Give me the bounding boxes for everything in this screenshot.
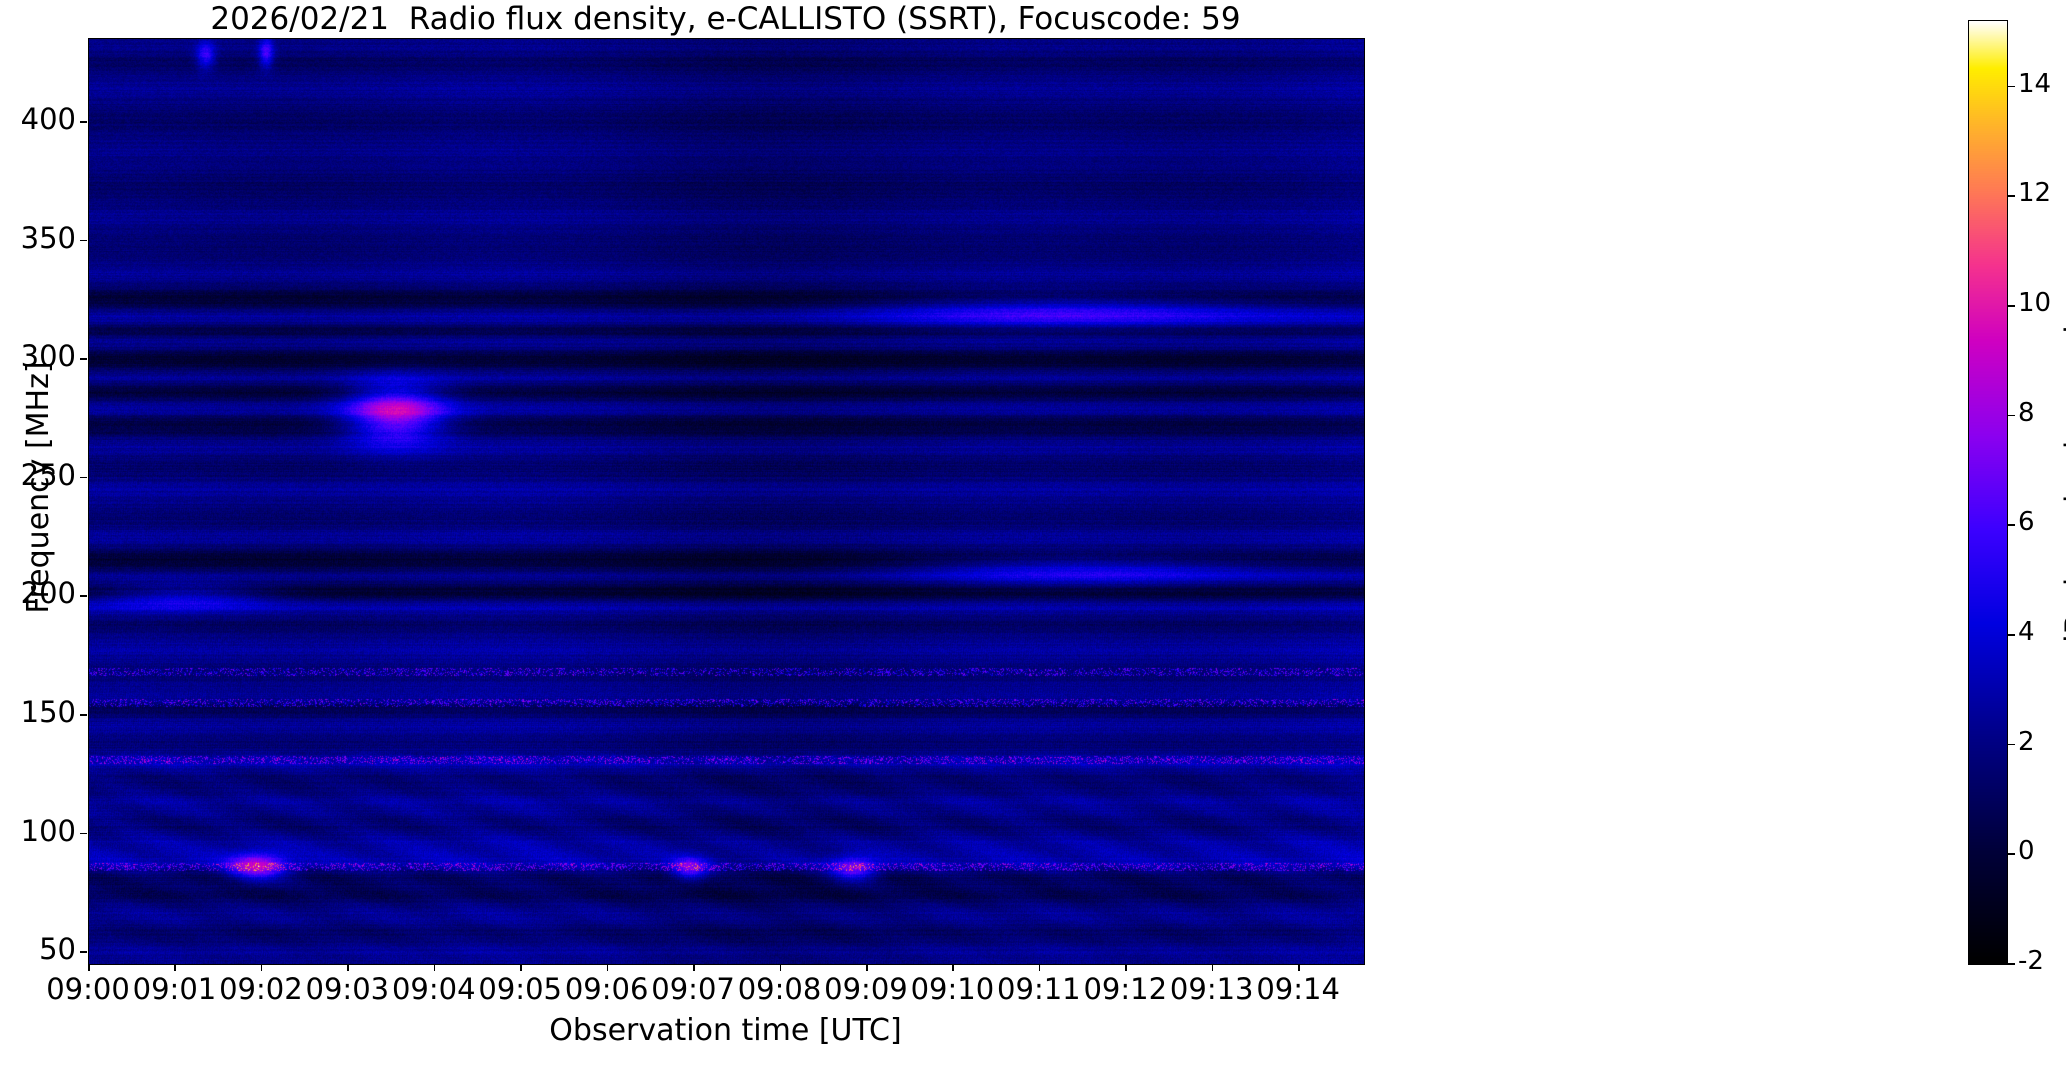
colorbar-tick-label: 14 bbox=[2018, 69, 2051, 99]
colorbar-tick-mark bbox=[2008, 415, 2015, 417]
colorbar[interactable] bbox=[1968, 20, 2008, 965]
colorbar-tick-label: 12 bbox=[2018, 178, 2051, 208]
x-tick-mark bbox=[1298, 964, 1300, 971]
x-tick-mark bbox=[520, 964, 522, 971]
x-tick-mark bbox=[693, 964, 695, 971]
y-tick-mark bbox=[80, 714, 87, 716]
colorbar-tick-label: 6 bbox=[2018, 507, 2035, 537]
colorbar-tick-mark bbox=[2008, 744, 2015, 746]
x-tick-mark bbox=[347, 964, 349, 971]
x-tick-mark bbox=[1125, 964, 1127, 971]
colorbar-gradient bbox=[1969, 21, 2007, 964]
colorbar-label: dB above background bbox=[2060, 90, 2066, 890]
x-tick-mark bbox=[607, 964, 609, 971]
colorbar-tick-mark bbox=[2008, 524, 2015, 526]
y-tick-mark bbox=[80, 121, 87, 123]
x-tick-mark bbox=[434, 964, 436, 971]
x-tick-mark bbox=[866, 964, 868, 971]
colorbar-tick-mark bbox=[2008, 963, 2015, 965]
x-tick-label: 09:14 bbox=[1228, 972, 1368, 1006]
colorbar-tick-label: -2 bbox=[2018, 946, 2044, 976]
colorbar-tick-label: 10 bbox=[2018, 288, 2051, 318]
y-tick-mark bbox=[80, 240, 87, 242]
spectrogram-image[interactable] bbox=[89, 39, 1364, 964]
figure-canvas: 2026/02/21 Radio flux density, e-CALLIST… bbox=[0, 0, 2066, 1067]
y-tick-mark bbox=[80, 833, 87, 835]
colorbar-tick-mark bbox=[2008, 853, 2015, 855]
y-tick-mark bbox=[80, 951, 87, 953]
x-tick-mark bbox=[1039, 964, 1041, 971]
x-tick-mark bbox=[88, 964, 90, 971]
x-tick-mark bbox=[174, 964, 176, 971]
x-tick-mark bbox=[780, 964, 782, 971]
colorbar-tick-label: 4 bbox=[2018, 617, 2035, 647]
colorbar-tick-mark bbox=[2008, 86, 2015, 88]
y-axis-label: Frequency [MHz] bbox=[21, 25, 56, 950]
y-tick-mark bbox=[80, 595, 87, 597]
colorbar-tick-mark bbox=[2008, 634, 2015, 636]
colorbar-tick-mark bbox=[2008, 195, 2015, 197]
colorbar-tick-mark bbox=[2008, 305, 2015, 307]
spectrogram-axes[interactable] bbox=[88, 38, 1365, 965]
page-title: 2026/02/21 Radio flux density, e-CALLIST… bbox=[88, 2, 1363, 36]
y-tick-mark bbox=[80, 477, 87, 479]
x-tick-mark bbox=[1212, 964, 1214, 971]
x-tick-mark bbox=[952, 964, 954, 971]
colorbar-tick-label: 8 bbox=[2018, 398, 2035, 428]
x-tick-mark bbox=[261, 964, 263, 971]
y-tick-mark bbox=[80, 358, 87, 360]
colorbar-tick-label: 0 bbox=[2018, 836, 2035, 866]
x-axis-label: Observation time [UTC] bbox=[88, 1013, 1363, 1048]
colorbar-tick-label: 2 bbox=[2018, 727, 2035, 757]
